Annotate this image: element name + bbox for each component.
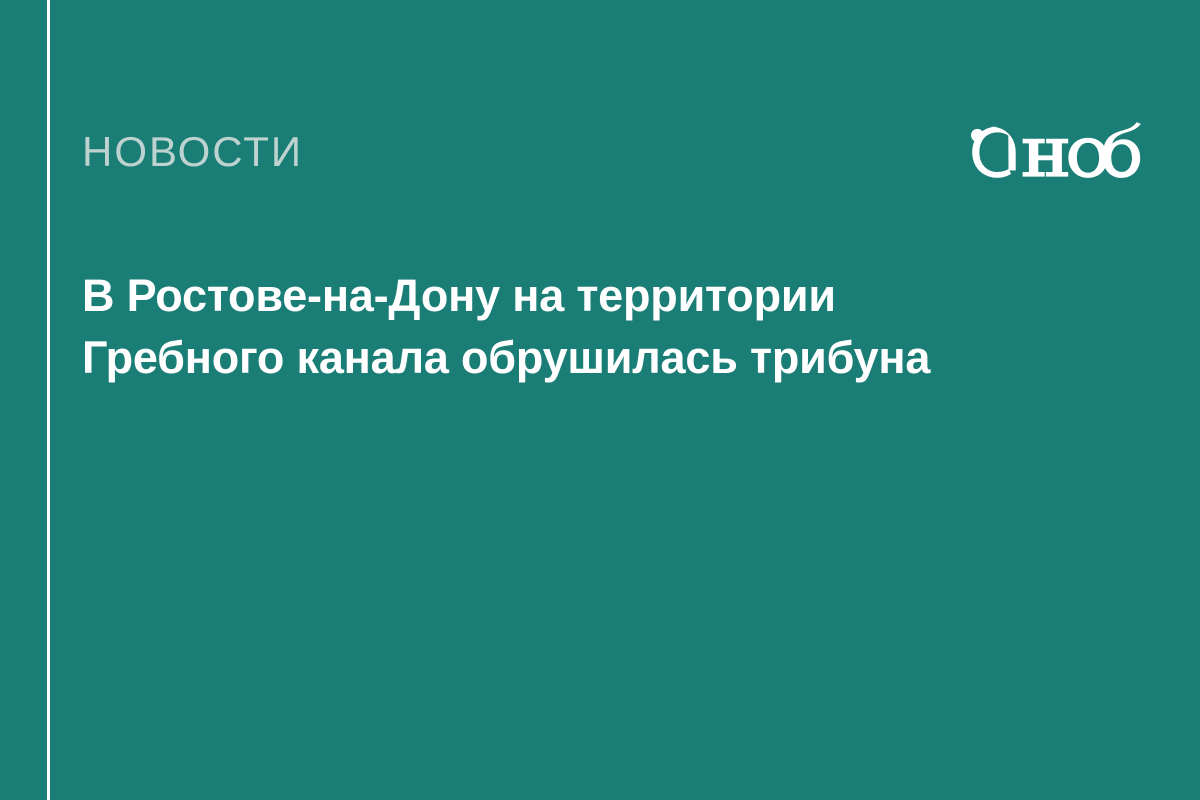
snob-logo[interactable] bbox=[956, 112, 1142, 194]
snob-wordmark-icon bbox=[971, 122, 1141, 178]
left-accent-rule bbox=[47, 0, 50, 800]
news-share-card: НОВОСТИ В Ростове-на-Дону на территории … bbox=[0, 0, 1200, 800]
article-headline: В Ростове-на-Дону на территории Гребного… bbox=[82, 265, 1082, 389]
headline-line-1: В Ростове-на-Дону на территории bbox=[82, 265, 1082, 327]
section-kicker-label: НОВОСТИ bbox=[82, 127, 303, 177]
headline-line-2: Гребного канала обрушилась трибуна bbox=[82, 327, 1082, 389]
